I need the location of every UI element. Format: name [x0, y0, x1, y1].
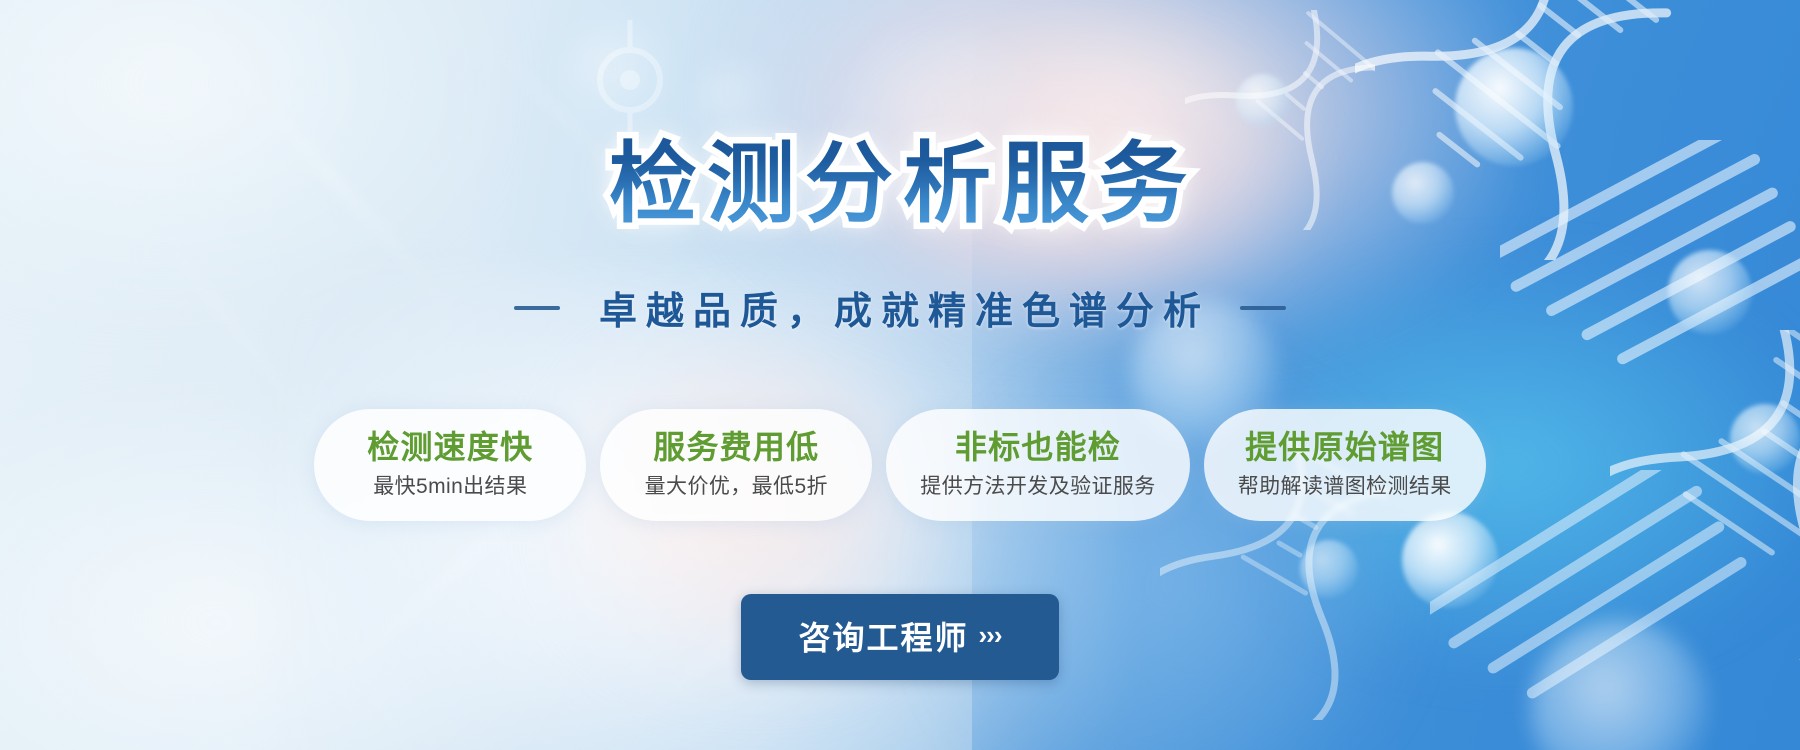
feature-pill-title: 检测速度快 — [348, 428, 552, 467]
feature-pill-speed[interactable]: 检测速度快 最快5min出结果 — [314, 409, 586, 521]
banner-title-wrap: 检测分析服务 检测分析服务 — [0, 136, 1800, 240]
subtitle-rule-right-icon — [1240, 306, 1286, 310]
feature-pill-raw-spectra[interactable]: 提供原始谱图 帮助解读谱图检测结果 — [1204, 409, 1486, 521]
cta-label: 咨询工程师 — [799, 613, 969, 659]
feature-pill-subtitle: 提供方法开发及验证服务 — [920, 474, 1155, 499]
consult-engineer-button[interactable]: 咨询工程师 ››› — [741, 594, 1059, 680]
detection-analysis-service-banner: 检测分析服务 检测分析服务 卓越品质，成就精准色谱分析 检测速度快 最快5min… — [0, 0, 1800, 750]
cta-wrap: 咨询工程师 ››› — [0, 594, 1800, 680]
feature-pill-price[interactable]: 服务费用低 量大价优，最低5折 — [600, 409, 872, 521]
banner-subtitle: 卓越品质，成就精准色谱分析 — [590, 280, 1210, 335]
chevron-right-triple-icon: ››› — [979, 622, 1002, 648]
feature-pill-subtitle: 最快5min出结果 — [348, 474, 552, 499]
feature-pill-subtitle: 帮助解读谱图检测结果 — [1238, 474, 1452, 499]
feature-pill-subtitle: 量大价优，最低5折 — [634, 474, 838, 499]
feature-pill-title: 服务费用低 — [634, 428, 838, 467]
feature-pill-title: 提供原始谱图 — [1238, 428, 1452, 467]
feature-pill-list: 检测速度快 最快5min出结果 服务费用低 量大价优，最低5折 非标也能检 提供… — [0, 409, 1800, 521]
banner-title-text: 检测分析服务 — [609, 134, 1197, 233]
banner-subtitle-wrap: 卓越品质，成就精准色谱分析 — [0, 280, 1800, 335]
banner-content: 检测分析服务 检测分析服务 卓越品质，成就精准色谱分析 检测速度快 最快5min… — [0, 0, 1800, 750]
feature-pill-nonstandard[interactable]: 非标也能检 提供方法开发及验证服务 — [886, 409, 1189, 521]
subtitle-rule-left-icon — [514, 306, 560, 310]
feature-pill-title: 非标也能检 — [920, 428, 1155, 467]
banner-title: 检测分析服务 检测分析服务 — [603, 136, 1197, 240]
